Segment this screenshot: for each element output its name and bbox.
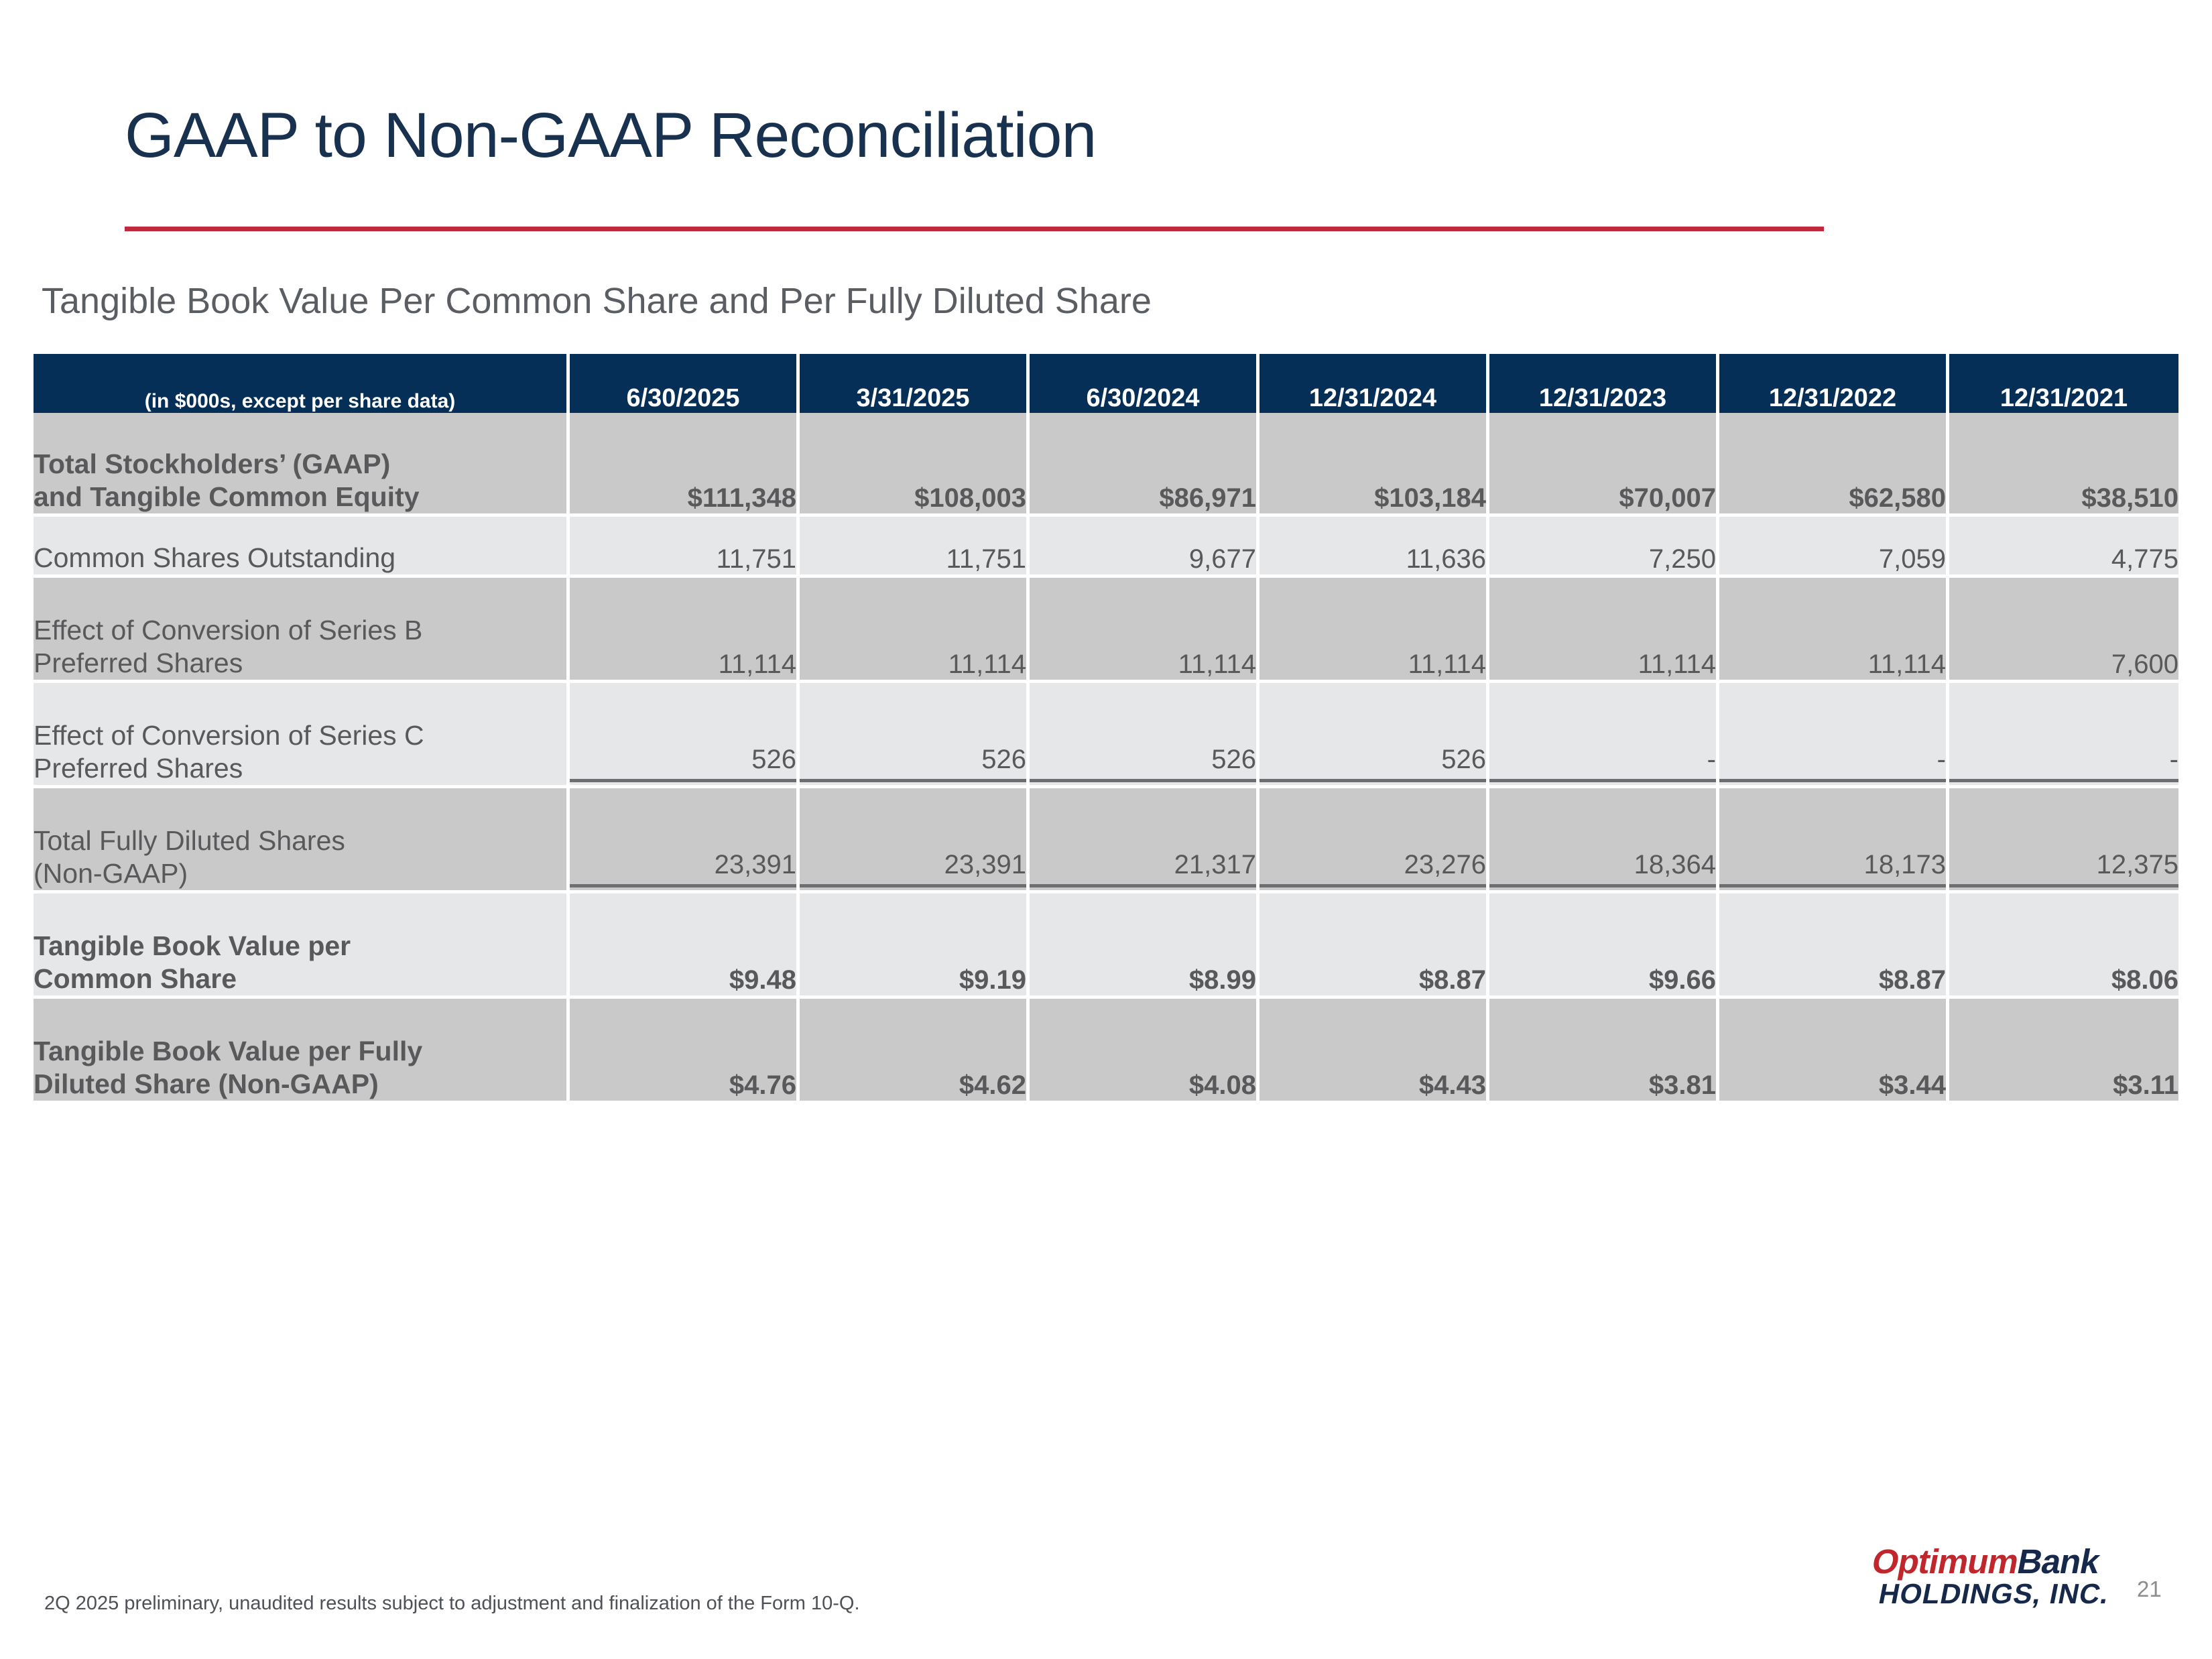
column-header-0: 6/30/2025	[570, 354, 800, 413]
cell-r4-c2: 21,317	[1030, 788, 1259, 894]
cell-r1-c3: 11,636	[1259, 517, 1489, 578]
table-row: Effect of Conversion of Series BPreferre…	[34, 578, 2178, 683]
cell-r2-c4: 11,114	[1489, 578, 1719, 683]
row-label-line2: Common Share	[34, 963, 237, 994]
table-body: Total Stockholders’ (GAAP)and Tangible C…	[34, 413, 2178, 1104]
row-label: Effect of Conversion of Series BPreferre…	[34, 578, 570, 683]
column-header-3: 12/31/2024	[1259, 354, 1489, 413]
row-label-line2: and Tangible Common Equity	[34, 481, 420, 512]
cell-r3-c6: -	[1949, 683, 2178, 788]
table-header-row: (in $000s, except per share data) 6/30/2…	[34, 354, 2178, 413]
logo-word-bank: Bank	[2014, 1542, 2103, 1581]
cell-r6-c2: $4.08	[1030, 999, 1259, 1104]
cell-r5-c4: $9.66	[1489, 894, 1719, 999]
cell-r3-c0: 526	[570, 683, 800, 788]
column-header-2: 6/30/2024	[1030, 354, 1259, 413]
row-label: Tangible Book Value per FullyDiluted Sha…	[34, 999, 570, 1104]
table-row: Total Fully Diluted Shares(Non-GAAP)23,3…	[34, 788, 2178, 894]
cell-r0-c2: $86,971	[1030, 413, 1259, 517]
row-label: Effect of Conversion of Series CPreferre…	[34, 683, 570, 788]
cell-r0-c5: $62,580	[1719, 413, 1949, 517]
column-header-6: 12/31/2021	[1949, 354, 2178, 413]
row-label-line2: Preferred Shares	[34, 753, 243, 784]
cell-r5-c6: $8.06	[1949, 894, 2178, 999]
table-row: Effect of Conversion of Series CPreferre…	[34, 683, 2178, 788]
cell-r2-c5: 11,114	[1719, 578, 1949, 683]
cell-r6-c6: $3.11	[1949, 999, 2178, 1104]
cell-r1-c4: 7,250	[1489, 517, 1719, 578]
page-title: GAAP to Non-GAAP Reconciliation	[125, 99, 1096, 172]
cell-r4-c3: 23,276	[1259, 788, 1489, 894]
cell-r3-c1: 526	[800, 683, 1030, 788]
cell-r1-c5: 7,059	[1719, 517, 1949, 578]
logo-line-1: OptimumBank	[1842, 1546, 2130, 1579]
table-row: Total Stockholders’ (GAAP)and Tangible C…	[34, 413, 2178, 517]
table-subtitle: Tangible Book Value Per Common Share and…	[42, 280, 1152, 322]
cell-r1-c1: 11,751	[800, 517, 1030, 578]
cell-r6-c0: $4.76	[570, 999, 800, 1104]
cell-r3-c4: -	[1489, 683, 1719, 788]
cell-r2-c2: 11,114	[1030, 578, 1259, 683]
row-label: Common Shares Outstanding	[34, 517, 570, 578]
cell-r0-c4: $70,007	[1489, 413, 1719, 517]
reconciliation-table: (in $000s, except per share data) 6/30/2…	[34, 354, 2178, 1104]
cell-value: 21,317	[1030, 850, 1256, 887]
logo-line-2: HOLDINGS, INC.	[1836, 1580, 2123, 1608]
cell-r6-c5: $3.44	[1719, 999, 1949, 1104]
cell-r2-c0: 11,114	[570, 578, 800, 683]
row-label: Tangible Book Value perCommon Share	[34, 894, 570, 999]
cell-r0-c6: $38,510	[1949, 413, 2178, 517]
cell-value: 23,391	[800, 850, 1026, 887]
column-header-5: 12/31/2022	[1719, 354, 1949, 413]
cell-r5-c3: $8.87	[1259, 894, 1489, 999]
cell-r4-c6: 12,375	[1949, 788, 2178, 894]
cell-r3-c2: 526	[1030, 683, 1259, 788]
company-logo: OptimumBank HOLDINGS, INC.	[1836, 1546, 2130, 1608]
cell-value: -	[1949, 745, 2178, 782]
cell-r2-c6: 7,600	[1949, 578, 2178, 683]
footnote: 2Q 2025 preliminary, unaudited results s…	[44, 1593, 860, 1615]
cell-r5-c1: $9.19	[800, 894, 1030, 999]
cell-value: -	[1719, 745, 1946, 782]
cell-value: 18,173	[1719, 850, 1946, 887]
row-label: Total Stockholders’ (GAAP)and Tangible C…	[34, 413, 570, 517]
cell-r5-c5: $8.87	[1719, 894, 1949, 999]
logo-word-optimum: Optimum	[1869, 1542, 2022, 1581]
cell-r6-c4: $3.81	[1489, 999, 1719, 1104]
cell-r6-c3: $4.43	[1259, 999, 1489, 1104]
column-header-1: 3/31/2025	[800, 354, 1030, 413]
cell-r4-c4: 18,364	[1489, 788, 1719, 894]
cell-r3-c3: 526	[1259, 683, 1489, 788]
table-row: Tangible Book Value per FullyDiluted Sha…	[34, 999, 2178, 1104]
cell-value: -	[1489, 745, 1716, 782]
row-label: Total Fully Diluted Shares(Non-GAAP)	[34, 788, 570, 894]
cell-r1-c0: 11,751	[570, 517, 800, 578]
cell-r4-c5: 18,173	[1719, 788, 1949, 894]
cell-r4-c0: 23,391	[570, 788, 800, 894]
cell-value: 23,276	[1259, 850, 1486, 887]
cell-r4-c1: 23,391	[800, 788, 1030, 894]
cell-r1-c2: 9,677	[1030, 517, 1259, 578]
row-label-line2: Preferred Shares	[34, 648, 243, 678]
table-row: Tangible Book Value perCommon Share$9.48…	[34, 894, 2178, 999]
cell-value: 12,375	[1949, 850, 2178, 887]
column-header-4: 12/31/2023	[1489, 354, 1719, 413]
cell-r0-c0: $111,348	[570, 413, 800, 517]
page-number: 21	[2137, 1577, 2162, 1602]
cell-r5-c0: $9.48	[570, 894, 800, 999]
cell-r1-c6: 4,775	[1949, 517, 2178, 578]
cell-value: 18,364	[1489, 850, 1716, 887]
title-divider-rule	[125, 227, 1824, 231]
cell-r2-c3: 11,114	[1259, 578, 1489, 683]
table-header: (in $000s, except per share data) 6/30/2…	[34, 354, 2178, 413]
cell-r2-c1: 11,114	[800, 578, 1030, 683]
column-header-label: (in $000s, except per share data)	[34, 354, 570, 413]
cell-value: 526	[1259, 745, 1486, 782]
cell-r0-c1: $108,003	[800, 413, 1030, 517]
cell-value: 23,391	[570, 850, 796, 887]
row-label-line2: (Non-GAAP)	[34, 858, 188, 889]
cell-value: 526	[570, 745, 796, 782]
table-row: Common Shares Outstanding11,75111,7519,6…	[34, 517, 2178, 578]
row-label-line2: Diluted Share (Non-GAAP)	[34, 1068, 379, 1099]
cell-r6-c1: $4.62	[800, 999, 1030, 1104]
cell-r3-c5: -	[1719, 683, 1949, 788]
cell-value: 526	[1030, 745, 1256, 782]
cell-r0-c3: $103,184	[1259, 413, 1489, 517]
cell-value: 526	[800, 745, 1026, 782]
cell-r5-c2: $8.99	[1030, 894, 1259, 999]
